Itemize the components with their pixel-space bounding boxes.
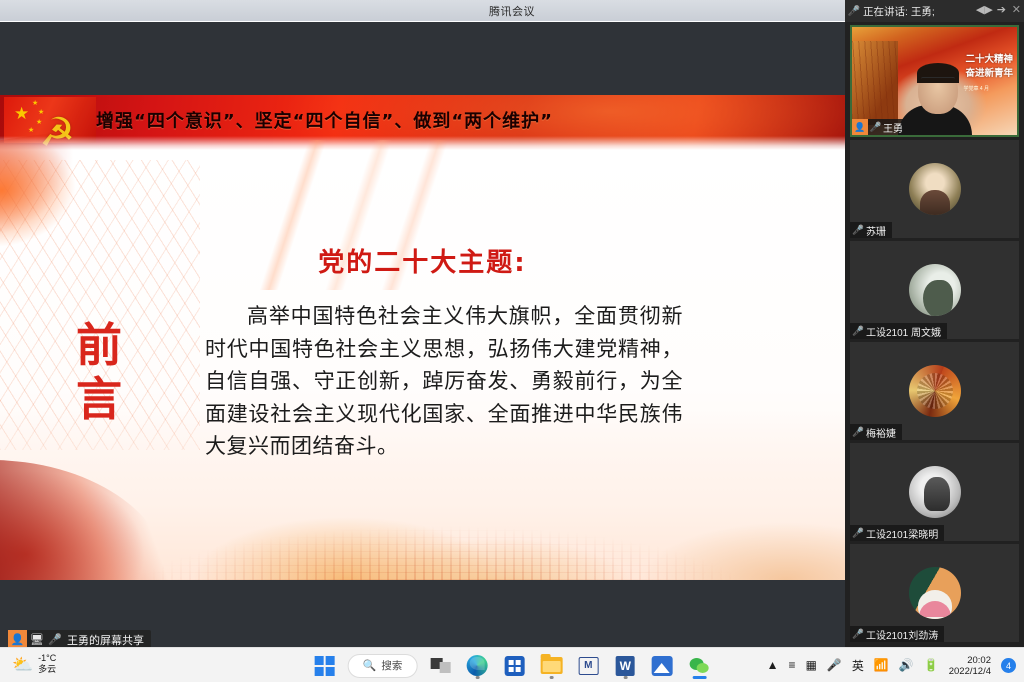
- notification-badge[interactable]: 4: [1001, 658, 1016, 673]
- participant-tile-speaker[interactable]: 二十大精神 奋进新青年 学党章 4 月 👤 🎤 王勇: [850, 25, 1019, 137]
- volume-icon[interactable]: 🔊: [899, 659, 914, 672]
- screen-share-label: 王勇的屏幕共享: [67, 632, 144, 648]
- collapse-icon[interactable]: ◀▶: [976, 4, 993, 17]
- slide-paragraph: 高举中国特色社会主义伟大旗帜，全面贯彻新时代中国特色社会主义思想，弘扬伟大建党精…: [205, 300, 683, 463]
- word-icon[interactable]: W: [611, 652, 639, 680]
- panel-header: 🎤 正在讲话: 王勇; ◀▶ ➔ ✕: [845, 0, 1024, 22]
- letterbox-top: [0, 22, 845, 95]
- mindmaster-icon[interactable]: M: [574, 652, 602, 680]
- weather-text: -1°C 多云: [38, 653, 56, 675]
- screen: 腾讯会议 ★★ ★★ ★ ☭ 增强“四个意识”、坚定“四个自信”、做到“两个维护…: [0, 0, 1024, 682]
- participant-tiles: 二十大精神 奋进新青年 学党章 4 月 👤 🎤 王勇: [845, 22, 1024, 647]
- slide-preface-label: 前言: [63, 318, 135, 427]
- weather-widget[interactable]: ⛅ -1°C 多云: [12, 653, 56, 675]
- wechat-icon[interactable]: [685, 652, 713, 680]
- participant-tile[interactable]: 🎤 苏珊: [850, 140, 1019, 238]
- mic-muted-icon: 🎤: [850, 225, 866, 236]
- tile-label: 🎤 工设2101刘劲涛: [850, 626, 944, 642]
- person-icon: 👤: [852, 119, 868, 135]
- mic-muted-icon: 🎤: [850, 326, 866, 337]
- participant-name: 王勇: [883, 120, 903, 135]
- microsoft-store-icon[interactable]: [500, 652, 528, 680]
- windows-taskbar: ⛅ -1°C 多云 🔍 搜索 M W: [0, 647, 1024, 682]
- mic-muted-icon: 🎤: [850, 528, 866, 539]
- participant-name: 梅裕婕: [866, 425, 896, 440]
- avatar: [909, 163, 961, 215]
- avatar: [909, 466, 961, 518]
- participant-tile[interactable]: 🎤 工设2101梁晓明: [850, 443, 1019, 541]
- participant-tile[interactable]: 🎤 工设2101刘劲涛: [850, 544, 1019, 642]
- mic-muted-icon: 🎤: [850, 629, 866, 640]
- participant-name: 工设2101 周文娥: [866, 324, 941, 339]
- clock[interactable]: 20:02 2022/12/4: [949, 655, 991, 677]
- slide-title: 党的二十大主题:: [0, 242, 845, 279]
- search-placeholder: 搜索: [381, 658, 402, 673]
- monitor-icon: 🖥: [29, 633, 45, 646]
- slide-body: 前言 党的二十大主题: 高举中国特色社会主义伟大旗帜，全面贯彻新时代中国特色社会…: [0, 150, 845, 580]
- avatar: [909, 264, 961, 316]
- participant-name: 苏珊: [866, 223, 886, 238]
- search-input[interactable]: 🔍 搜索: [348, 654, 418, 678]
- tile-label: 🎤 工设2101 周文娥: [850, 323, 947, 339]
- file-explorer-icon[interactable]: [537, 652, 565, 680]
- taskbar-center: 🔍 搜索 M W: [311, 648, 714, 682]
- minimize-icon[interactable]: ➔: [997, 4, 1006, 17]
- active-speaker-label: 正在讲话: 王勇;: [863, 4, 935, 19]
- backdrop-line-3: 学党章 4 月: [963, 85, 989, 92]
- backdrop-line-2: 奋进新青年: [965, 65, 1013, 79]
- participant-name: 工设2101梁晓明: [866, 526, 938, 541]
- mountain-app-icon[interactable]: [648, 652, 676, 680]
- microphone-icon: 🎤: [47, 633, 63, 646]
- battery-icon[interactable]: 🔋: [924, 659, 939, 672]
- windows-start-icon[interactable]: [311, 652, 339, 680]
- avatar: [909, 567, 961, 619]
- panel-header-buttons[interactable]: ◀▶ ➔: [976, 4, 1006, 17]
- tile-label: 🎤 工设2101梁晓明: [850, 525, 944, 541]
- person-icon: 👤: [8, 630, 27, 647]
- partly-cloudy-night-icon: ⛅: [12, 656, 33, 673]
- glasses-icon: [921, 77, 955, 85]
- presentation-slide: ★★ ★★ ★ ☭ 增强“四个意识”、坚定“四个自信”、做到“两个维护” 前言 …: [0, 95, 845, 580]
- tile-label: 🎤 梅裕婕: [850, 424, 902, 440]
- microphone-icon[interactable]: 🎤: [827, 659, 842, 672]
- meeting-icon[interactable]: ▦: [806, 659, 817, 672]
- microphone-icon: 🎤: [868, 122, 883, 133]
- participant-name: 工设2101刘劲涛: [866, 627, 938, 642]
- backdrop-line-1: 二十大精神: [965, 51, 1013, 65]
- video-backdrop-wall: [852, 41, 898, 125]
- speaking-icon: 🎤: [845, 6, 863, 17]
- weather-temperature: -1°C: [38, 653, 56, 664]
- chevron-up-icon[interactable]: ▲: [767, 659, 779, 672]
- system-tray: ▲ ≡ ▦ 🎤 英 📶 🔊 🔋 20:02 2022/12/4 4: [767, 648, 1016, 682]
- close-icon[interactable]: ✕: [1012, 3, 1021, 16]
- sliders-icon[interactable]: ≡: [789, 659, 796, 672]
- weather-condition: 多云: [38, 664, 56, 675]
- tile-label: 👤 🎤 王勇: [852, 119, 909, 135]
- slide-banner-text: 增强“四个意识”、坚定“四个自信”、做到“两个维护”: [96, 107, 837, 133]
- avatar: [909, 365, 961, 417]
- participant-tile[interactable]: 🎤 工设2101 周文娥: [850, 241, 1019, 339]
- edge-icon[interactable]: [463, 652, 491, 680]
- screen-share-indicator: 👤 🖥 🎤 王勇的屏幕共享: [8, 630, 151, 647]
- search-icon: 🔍: [363, 659, 377, 672]
- participants-panel: 🎤 正在讲话: 王勇; ◀▶ ➔ ✕ 二十大精神 奋进新青年 学党章 4 月: [845, 0, 1024, 647]
- task-view-icon[interactable]: [426, 652, 454, 680]
- wifi-icon[interactable]: 📶: [874, 659, 889, 672]
- tile-label: 🎤 苏珊: [850, 222, 892, 238]
- clock-time: 20:02: [949, 655, 991, 666]
- mic-muted-icon: 🎤: [850, 427, 866, 438]
- participant-tile[interactable]: 🎤 梅裕婕: [850, 342, 1019, 440]
- ime-indicator[interactable]: 英: [852, 657, 864, 674]
- clock-date: 2022/12/4: [949, 666, 991, 677]
- shared-screen-region[interactable]: ★★ ★★ ★ ☭ 增强“四个意识”、坚定“四个自信”、做到“两个维护” 前言 …: [0, 22, 845, 647]
